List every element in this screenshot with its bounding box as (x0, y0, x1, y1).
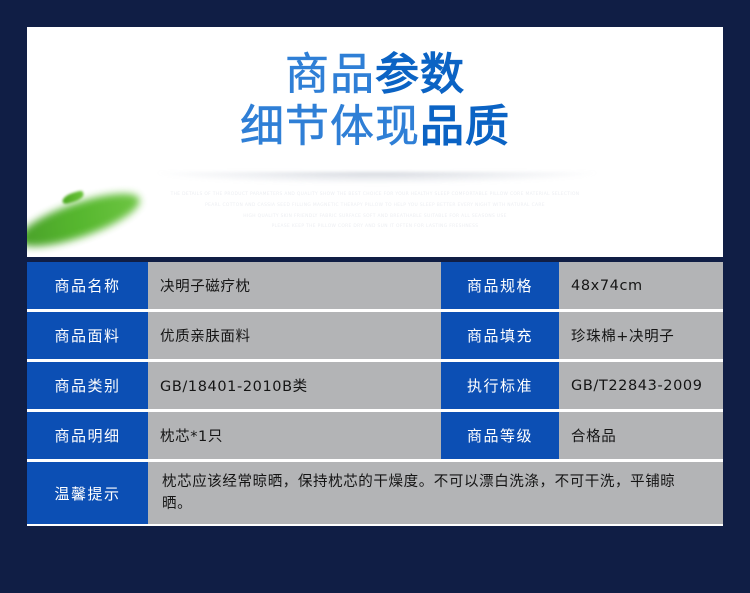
spec-label-filling: 商品填充 (441, 312, 559, 359)
spec-value-fabric: 优质亲肤面料 (148, 312, 441, 359)
spec-label-category: 商品类别 (27, 362, 148, 409)
title-line-1: 商品参数 (27, 49, 723, 101)
table-row: 商品名称 决明子磁疗枕 商品规格 48x74cm (27, 262, 723, 309)
spec-label-product-name: 商品名称 (27, 262, 148, 309)
title-line-2-bold: 品质 (420, 101, 510, 152)
page-title: 商品参数 细节体现品质 (27, 49, 723, 153)
spec-table: 商品名称 决明子磁疗枕 商品规格 48x74cm 商品面料 优质亲肤面料 商品填… (27, 262, 723, 526)
spec-label-standard: 执行标准 (441, 362, 559, 409)
spec-value-details: 枕芯*1只 (148, 412, 441, 459)
filler-line-3: HIGH QUALITY SKIN FRIENDLY FABRIC SURFAC… (27, 212, 723, 223)
spec-value-tip: 枕芯应该经常晾晒，保持枕芯的干燥度。不可以漂白洗涤，不可干洗，平铺晾晒。 (148, 462, 723, 524)
title-shadow-divider (157, 172, 597, 184)
table-row: 商品类别 GB/18401-2010B类 执行标准 GB/T22843-2009 (27, 362, 723, 409)
filler-line-4: PLEASE KEEP THE PILLOW CORE DRY AND SUN … (27, 222, 723, 233)
spec-label-grade: 商品等级 (441, 412, 559, 459)
spec-label-tip: 温馨提示 (27, 462, 148, 524)
table-row-tip: 温馨提示 枕芯应该经常晾晒，保持枕芯的干燥度。不可以漂白洗涤，不可干洗，平铺晾晒… (27, 462, 723, 524)
spec-value-filling: 珍珠棉+决明子 (559, 312, 723, 359)
title-line-2: 细节体现品质 (27, 101, 723, 153)
title-line-2-thin: 细节体现 (240, 101, 420, 152)
spec-value-category: GB/18401-2010B类 (148, 362, 441, 409)
spec-label-details: 商品明细 (27, 412, 148, 459)
spec-value-standard: GB/T22843-2009 (559, 362, 723, 409)
spec-value-product-size: 48x74cm (559, 262, 723, 309)
spec-label-fabric: 商品面料 (27, 312, 148, 359)
hero-panel: 商品参数 细节体现品质 THE DETAILS OF THE PRODUCT P… (27, 27, 723, 257)
spec-label-product-size: 商品规格 (441, 262, 559, 309)
spec-value-grade: 合格品 (559, 412, 723, 459)
table-row: 商品面料 优质亲肤面料 商品填充 珍珠棉+决明子 (27, 312, 723, 359)
table-row: 商品明细 枕芯*1只 商品等级 合格品 (27, 412, 723, 459)
product-spec-page: 商品参数 细节体现品质 THE DETAILS OF THE PRODUCT P… (0, 0, 750, 593)
title-line-1-thin: 商品 (285, 49, 375, 100)
spec-value-product-name: 决明子磁疗枕 (148, 262, 441, 309)
title-line-1-bold: 参数 (375, 49, 465, 100)
tip-text: 枕芯应该经常晾晒，保持枕芯的干燥度。不可以漂白洗涤，不可干洗，平铺晾晒。 (162, 471, 702, 516)
